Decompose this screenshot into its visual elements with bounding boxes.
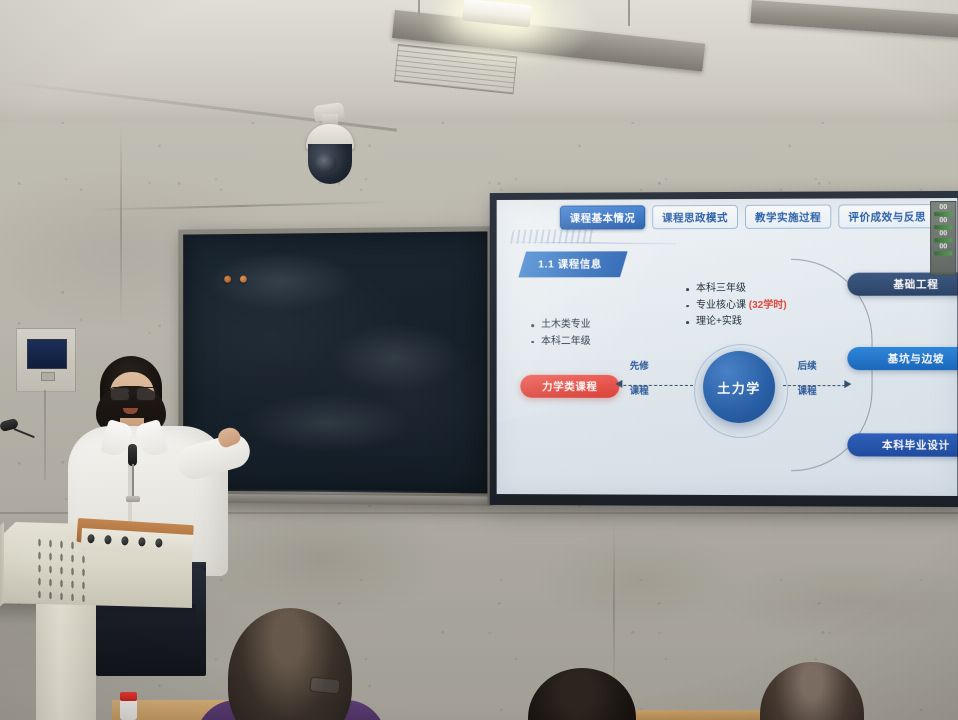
- course-relationship-diagram: 土木类专业 本科二年级 本科三年级 专业核心课 (32学时) 理论+实践 土力学…: [497, 198, 958, 496]
- prev-arrow-label-line1: 先修: [619, 362, 659, 373]
- tab-course-overview[interactable]: 课程基本情况: [560, 205, 645, 229]
- podium-microphone-stem: [132, 464, 134, 498]
- audience-1-glasses: [309, 676, 340, 694]
- followup-pill-excavation: 基坑与边坡: [847, 347, 957, 370]
- next-arrow-label-line1: 后续: [787, 362, 827, 373]
- lectern-button-3[interactable]: [121, 536, 129, 545]
- overlay-value-0: 00: [939, 204, 947, 211]
- overlay-bar-1: [934, 225, 952, 229]
- board-magnet-2: [240, 276, 247, 283]
- water-bottle-cap: [120, 692, 137, 701]
- slide-tab-bar: 课程基本情况 课程思政模式 教学实施过程 评价成效与反思: [560, 204, 935, 229]
- lectern: [0, 508, 196, 720]
- microphone-arm: [14, 428, 35, 438]
- chalk-smear-3: [242, 393, 411, 454]
- overlay-bar-0: [934, 212, 952, 216]
- prev-arrow-label: 先修 课程: [619, 362, 659, 398]
- podium-microphone-base: [126, 496, 140, 502]
- classroom-scene: 课程基本情况 课程思政模式 教学实施过程 评价成效与反思 1.1 课程信息 土木…: [0, 0, 958, 720]
- lectern-column: [36, 604, 96, 720]
- slide-screen: 课程基本情况 课程思政模式 教学实施过程 评价成效与反思 1.1 课程信息 土木…: [497, 198, 958, 496]
- wall-seam-vertical-left: [120, 124, 122, 324]
- board-magnet-1: [224, 276, 231, 283]
- presentation-display: 课程基本情况 课程思政模式 教学实施过程 评价成效与反思 1.1 课程信息 土木…: [490, 191, 958, 507]
- lamp-hanger-2: [628, 0, 630, 26]
- course-bullet-1-text: 专业核心课: [696, 299, 746, 310]
- followup-pill-thesis: 本科毕业设计: [847, 433, 957, 457]
- credit-hours-label: (32学时): [749, 299, 787, 310]
- chalk-smear-2: [331, 323, 462, 394]
- slide-section-banner: 1.1 课程信息: [518, 251, 627, 277]
- next-arrow-label: 后续 课程: [787, 362, 827, 398]
- course-bullet-2: 理论+实践: [685, 314, 787, 331]
- control-panel-button[interactable]: [41, 372, 55, 381]
- next-arrow-line: [783, 385, 845, 386]
- tab-teaching-process[interactable]: 教学实施过程: [745, 205, 831, 229]
- lamp-hanger-1: [418, 0, 420, 16]
- security-camera: [300, 104, 362, 188]
- tab-ideology-model[interactable]: 课程思政模式: [652, 205, 738, 229]
- lectern-button-4[interactable]: [138, 537, 146, 546]
- wall-microphone: [0, 420, 34, 446]
- overlay-value-3: 00: [939, 243, 947, 250]
- prev-arrow-line: [623, 385, 693, 386]
- prerequisite-course-pill: 力学类课程: [520, 375, 619, 398]
- core-course-node: 土力学: [703, 351, 775, 423]
- prereq-bullet-0: 土木类专业: [530, 317, 590, 333]
- control-panel-screen: [27, 339, 67, 369]
- overlay-bar-2: [934, 238, 952, 242]
- screen-overlay-panel[interactable]: 00 00 00 00: [930, 201, 956, 276]
- next-arrow-label-line2: 课程: [787, 387, 827, 398]
- podium-microphone-head-icon: [128, 444, 137, 466]
- prev-arrow-head-icon: [615, 380, 622, 388]
- wall-seam-vertical-right: [613, 520, 615, 700]
- prev-arrow-label-line2: 课程: [619, 387, 659, 398]
- panel-cable: [44, 390, 46, 480]
- tab-evaluation-reflection[interactable]: 评价成效与反思: [838, 204, 935, 228]
- next-arrow-head-icon: [844, 380, 851, 388]
- course-attribute-bullets: 本科三年级 专业核心课 (32学时) 理论+实践: [685, 281, 787, 331]
- overlay-bar-3: [934, 251, 952, 255]
- lectern-button-5[interactable]: [155, 538, 163, 547]
- prerequisite-bullets: 土木类专业 本科二年级: [530, 317, 590, 350]
- followup-pill-foundation: 基础工程: [847, 272, 957, 295]
- presenter-glasses: [109, 387, 156, 400]
- overlay-value-2: 00: [939, 230, 947, 237]
- lectern-button-1[interactable]: [87, 533, 95, 542]
- rear-desk: [626, 710, 776, 720]
- camera-lens-icon: [315, 154, 337, 172]
- glasses-lens-left: [110, 387, 130, 401]
- course-bullet-0: 本科三年级: [685, 281, 787, 298]
- prereq-bullet-1: 本科二年级: [530, 334, 590, 350]
- lectern-button-2[interactable]: [104, 535, 112, 544]
- course-bullet-1: 专业核心课 (32学时): [685, 297, 787, 314]
- overlay-value-1: 00: [939, 217, 947, 224]
- glasses-lens-right: [136, 387, 156, 401]
- lectern-left-edge: [0, 522, 4, 610]
